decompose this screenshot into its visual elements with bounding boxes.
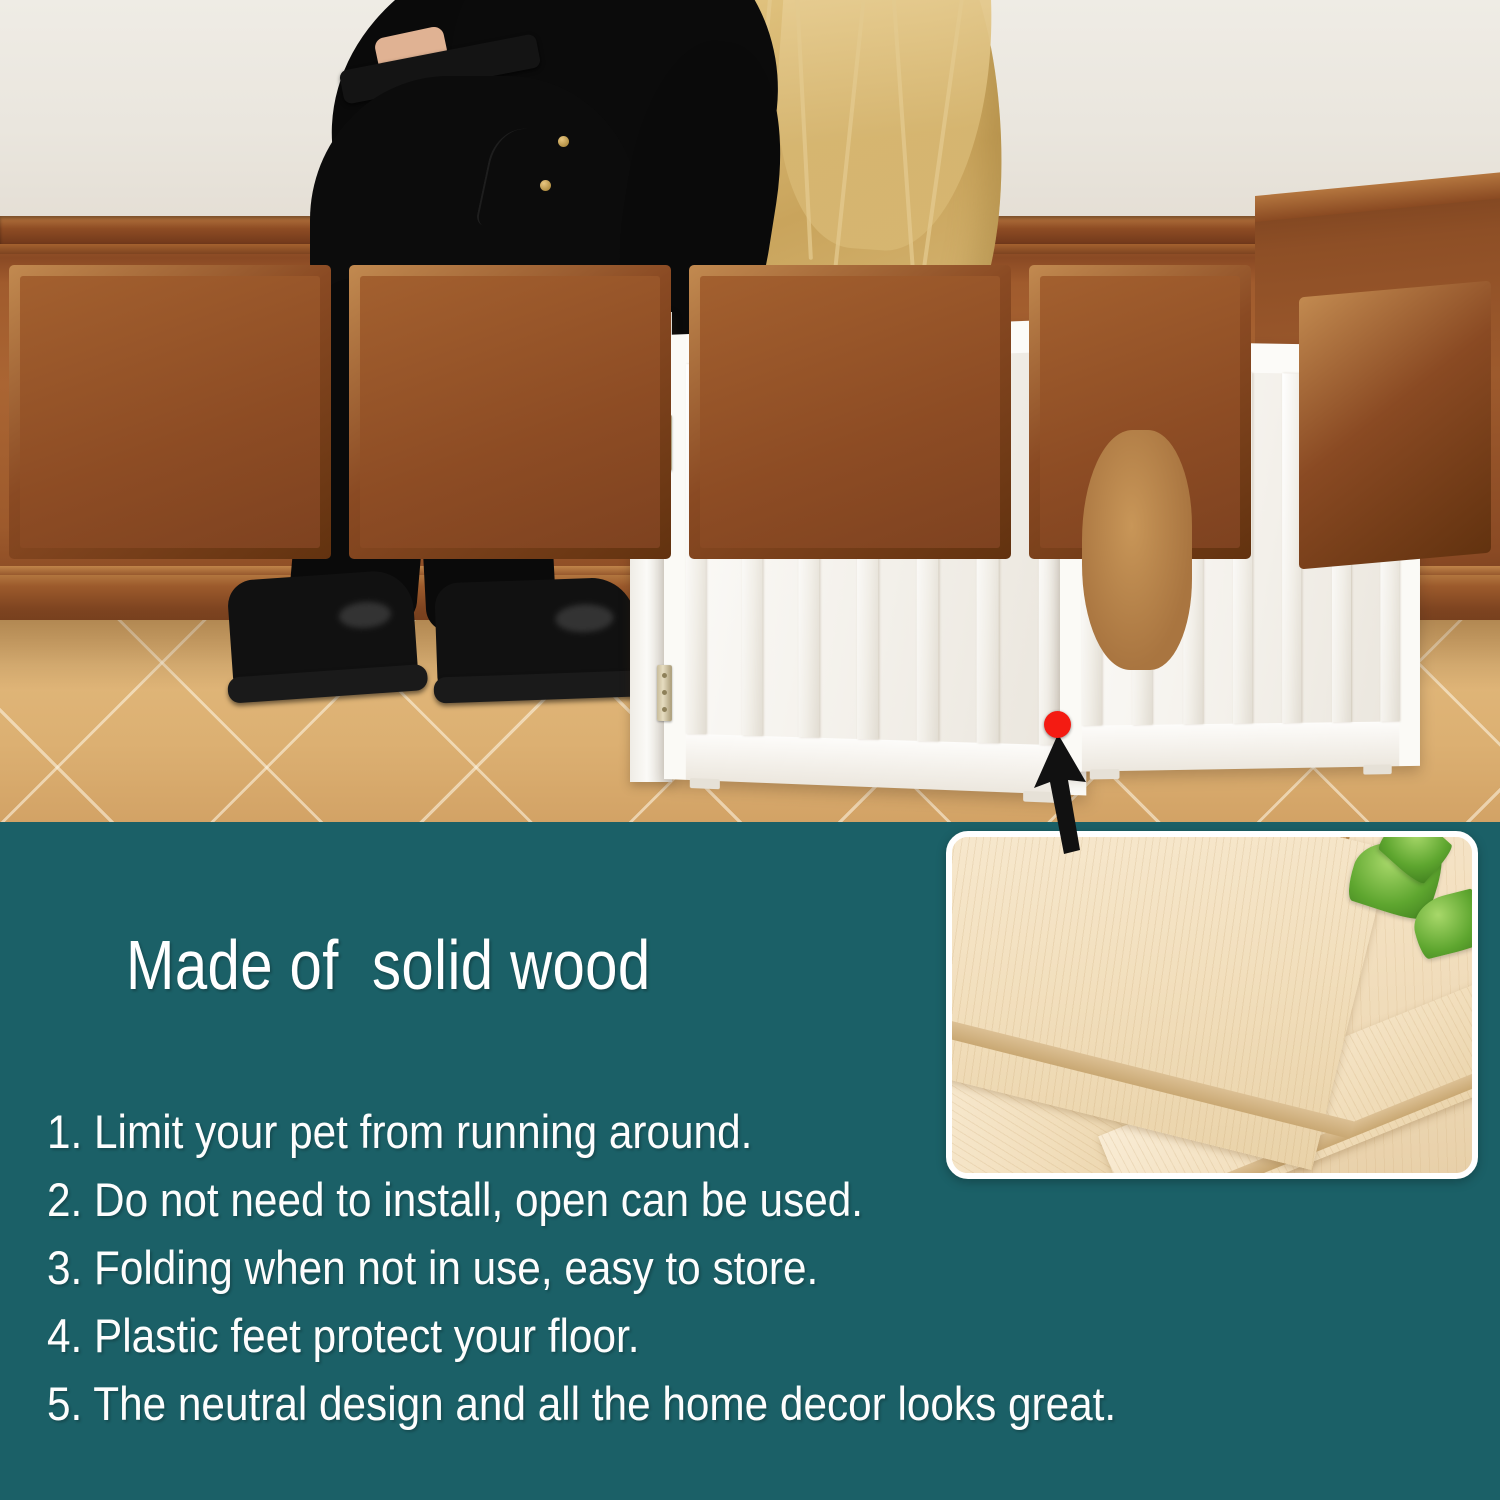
dog-rear-behind-right-panel bbox=[1082, 430, 1192, 670]
feature-list-item-5: 5. The neutral design and all the home d… bbox=[47, 1380, 1307, 1427]
boot-right bbox=[434, 577, 638, 694]
feature-list-item-3: 3. Folding when not in use, easy to stor… bbox=[47, 1244, 1307, 1291]
pocket-rivet-1 bbox=[558, 136, 569, 147]
feature-list-item-2: 2. Do not need to install, open can be u… bbox=[47, 1176, 1307, 1223]
callout-arrow-icon bbox=[1020, 726, 1130, 856]
gate-foot-left bbox=[690, 778, 720, 789]
gate-foot-right bbox=[1363, 764, 1391, 774]
product-feature-image: Made of solid wood 1. Limit your pet fro… bbox=[0, 0, 1500, 1500]
boot-left bbox=[226, 569, 418, 694]
wood-closeup-inset bbox=[946, 831, 1478, 1179]
lifestyle-photo bbox=[0, 0, 1500, 822]
headline: Made of solid wood bbox=[126, 930, 651, 1000]
gate-hinge-bottom bbox=[657, 665, 672, 721]
pocket-rivet-2 bbox=[540, 180, 551, 191]
feature-list-item-4: 4. Plastic feet protect your floor. bbox=[47, 1312, 1307, 1359]
red-dot-marker bbox=[1044, 711, 1071, 738]
